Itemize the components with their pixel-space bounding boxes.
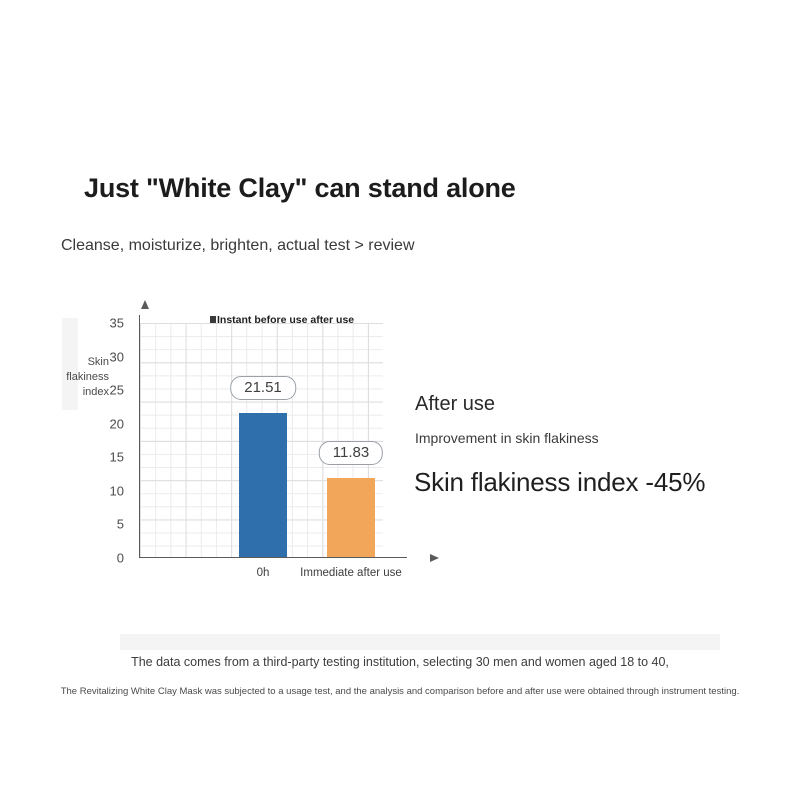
data-label-after: 11.83 xyxy=(319,441,383,465)
page-title: Just "White Clay" can stand alone xyxy=(84,173,516,204)
y-axis-title-line-2: flakiness xyxy=(55,370,109,385)
x-tick-label: Immediate after use xyxy=(300,567,402,579)
plot-area: 0 5 10 15 20 25 30 35 21.51 11.83 0h Imm… xyxy=(133,323,383,558)
y-tick-label: 0 xyxy=(117,551,124,566)
claim-highlight: Skin flakiness index -45% xyxy=(414,467,705,498)
footnote-primary: The data comes from a third-party testin… xyxy=(0,655,800,669)
data-label-before: 21.51 xyxy=(230,376,296,400)
y-tick-label: 25 xyxy=(110,383,124,398)
x-tick-label: 0h xyxy=(257,567,270,579)
footnote-secondary: The Revitalizing White Clay Mask was sub… xyxy=(0,686,800,697)
y-tick-label: 35 xyxy=(110,316,124,331)
bar-before-use[interactable] xyxy=(239,413,287,557)
y-axis-title-line-1: Skin xyxy=(55,355,109,370)
y-tick-label: 20 xyxy=(110,416,124,431)
infographic-page: { "headline": "Just \"White Clay\" can s… xyxy=(0,0,800,800)
y-axis-title: Skin flakiness index xyxy=(55,355,109,400)
y-tick-label: 10 xyxy=(110,483,124,498)
watermark-band-bottom xyxy=(120,634,720,650)
y-tick-label: 5 xyxy=(117,517,124,532)
y-tick-label: 30 xyxy=(110,349,124,364)
y-axis-arrow-icon xyxy=(141,300,149,309)
x-axis-arrow-icon xyxy=(430,554,439,562)
y-axis-line xyxy=(139,315,140,558)
claim-title: After use xyxy=(415,393,495,416)
page-subtitle: Cleanse, moisturize, brighten, actual te… xyxy=(61,237,415,255)
y-axis-title-line-3: index xyxy=(55,385,109,400)
y-tick-label: 15 xyxy=(110,450,124,465)
bar-after-use[interactable] xyxy=(327,478,375,557)
claim-subtitle: Improvement in skin flakiness xyxy=(415,430,599,446)
bar-chart: Skin flakiness index Instant before use … xyxy=(55,310,400,595)
